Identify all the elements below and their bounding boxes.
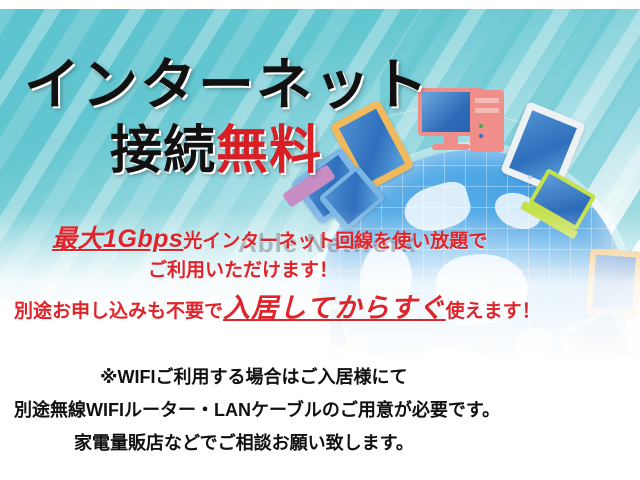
note-line-2: 別途無線WIFIルーター・LANケーブルのご用意が必要です。 — [14, 396, 500, 422]
promo-line-3: 別途お申し込みも不要で入居してからすぐ使えます！ — [14, 286, 541, 325]
monitor-base — [432, 144, 470, 150]
promo-speed-highlight: 最大1Gbps — [52, 225, 183, 253]
advertisement-banner: インターネット 接続無料 Able Network 最大1Gbps光インターネッ… — [0, 0, 640, 480]
headline-secondary: 接続無料 — [110, 108, 322, 183]
tower-slot — [475, 98, 499, 103]
home-button-icon — [527, 175, 532, 180]
bottom-border — [0, 471, 640, 480]
promo-line-2: ご利用いただけます！ — [148, 255, 338, 282]
desktop-tower — [470, 90, 504, 152]
headline-secondary-red: 無料 — [216, 122, 322, 180]
promo-moveins-highlight: 入居してからすぐ — [223, 293, 446, 323]
promo-line-3-prefix: 別途お申し込みも不要で — [14, 301, 223, 322]
promo-line-3-suffix: 使えます！ — [446, 301, 541, 322]
note-line-3: 家電量販店などでご相談お願い致します。 — [74, 429, 414, 455]
top-border — [0, 0, 640, 9]
tower-led — [479, 124, 483, 128]
monitor-neck — [444, 136, 458, 144]
headline-secondary-black: 接続 — [110, 122, 216, 180]
tower-led — [479, 134, 483, 138]
note-line-1: ※WIFIご利用する場合はご入居様にて — [100, 363, 407, 389]
tower-slot — [475, 108, 499, 113]
promo-line-1-rest: 光インターネット回線を使い放題で — [183, 231, 487, 252]
promo-line-1: 最大1Gbps光インターネット回線を使い放題で — [52, 219, 487, 255]
